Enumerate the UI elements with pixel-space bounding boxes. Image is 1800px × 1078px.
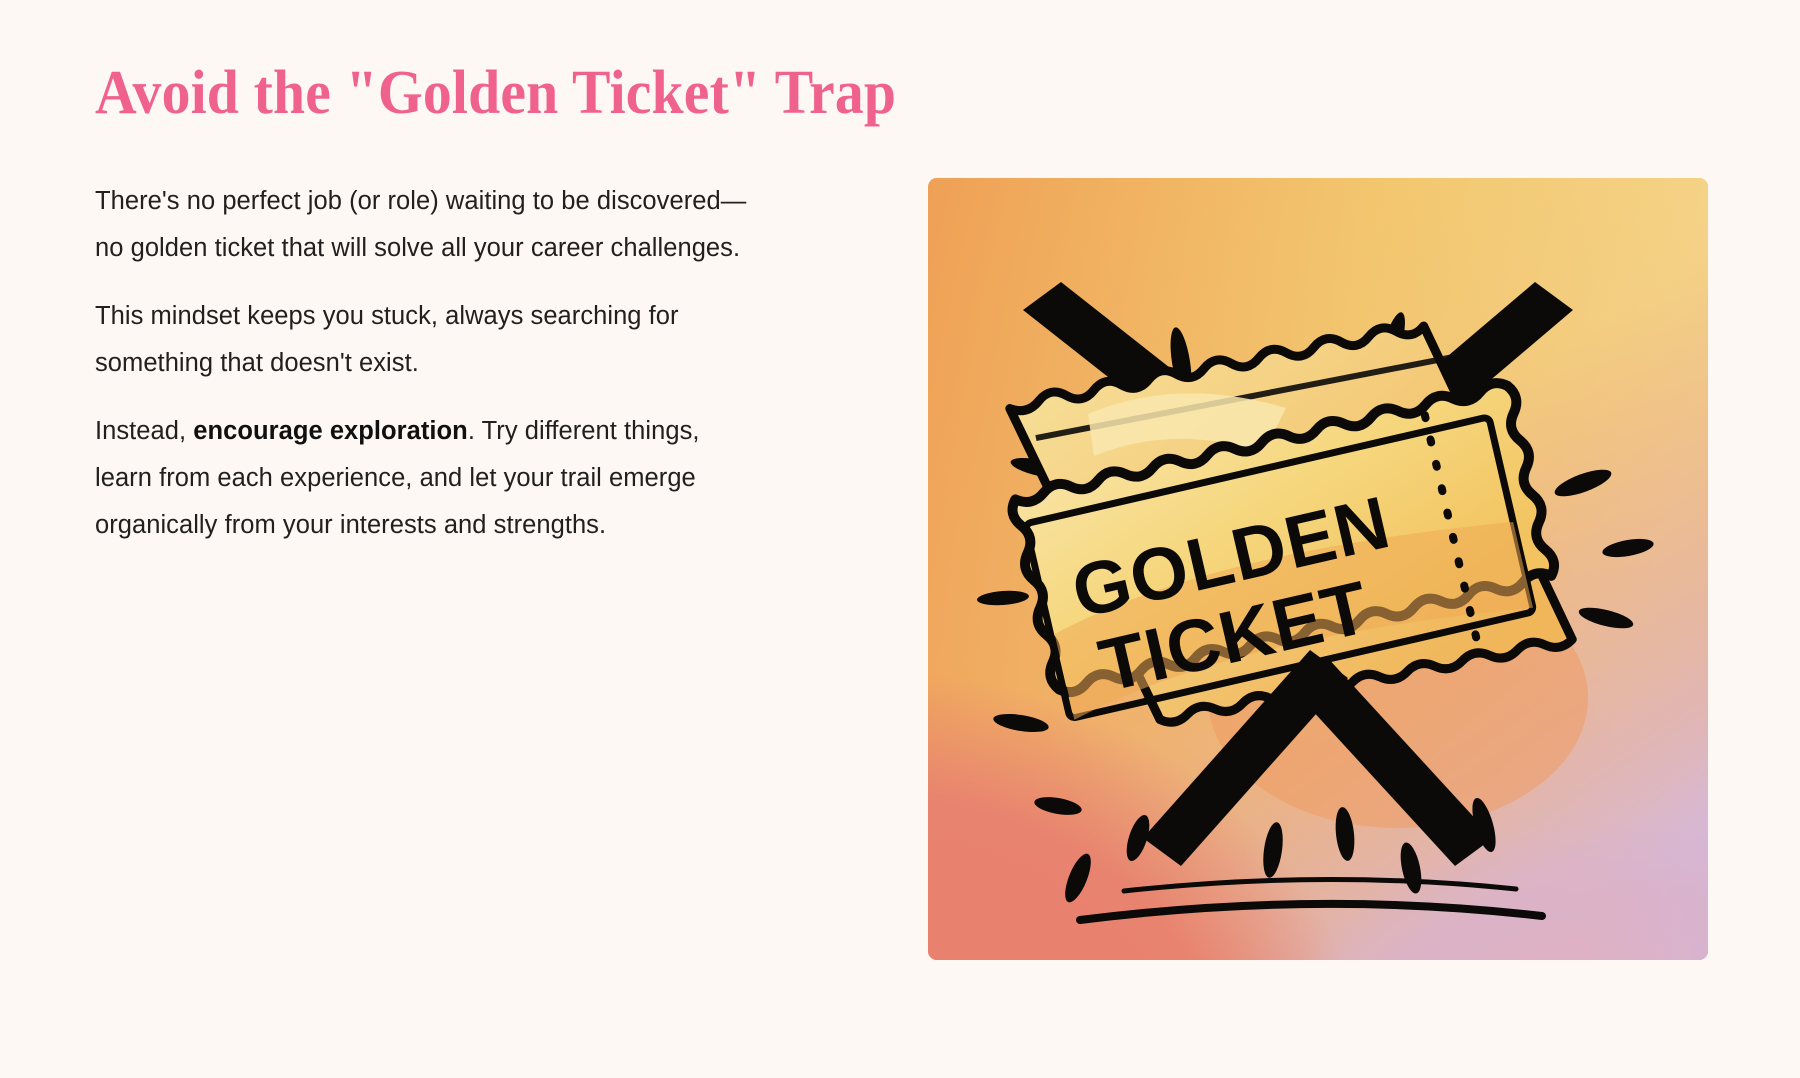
- paragraph-2: This mindset keeps you stuck, always sea…: [95, 293, 755, 387]
- slide-root: Avoid the "Golden Ticket" Trap There's n…: [0, 0, 1800, 1078]
- emphasis-text: encourage exploration: [193, 417, 468, 445]
- body-text-run: There's no perfect job (or role) waiting…: [95, 187, 746, 262]
- paragraph-1: There's no perfect job (or role) waiting…: [95, 178, 755, 272]
- paragraph-3: Instead, encourage exploration. Try diff…: [95, 408, 755, 549]
- body-text-run: This mindset keeps you stuck, always sea…: [95, 302, 679, 377]
- content-area: There's no perfect job (or role) waiting…: [0, 178, 1800, 878]
- page-title: Avoid the "Golden Ticket" Trap: [95, 60, 896, 127]
- golden-ticket-svg: GOLDEN TICKET: [928, 178, 1708, 960]
- body-text-run: Instead,: [95, 417, 193, 445]
- body-text-column: There's no perfect job (or role) waiting…: [95, 178, 755, 549]
- golden-ticket-illustration: GOLDEN TICKET: [928, 178, 1708, 960]
